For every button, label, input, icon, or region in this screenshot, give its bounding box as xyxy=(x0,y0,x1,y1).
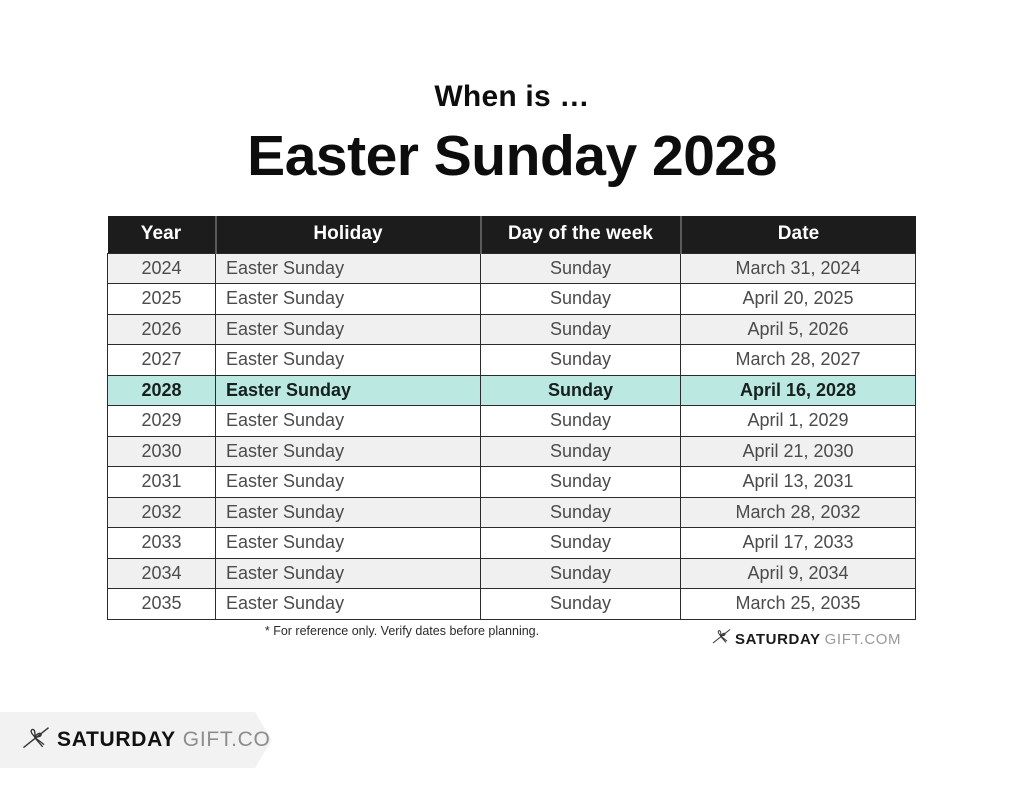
page-kicker: When is … xyxy=(0,80,1024,113)
cell-day-of-week: Sunday xyxy=(481,528,681,559)
brand-name-light: GIFT.COM xyxy=(825,631,901,648)
brand-name-bold: SATURDAY xyxy=(57,728,176,752)
cell-holiday: Easter Sunday xyxy=(216,406,481,437)
cell-holiday: Easter Sunday xyxy=(216,253,481,284)
table-header: Year Holiday Day of the week Date xyxy=(108,216,916,253)
table-row: 2035Easter SundaySundayMarch 25, 2035 xyxy=(108,589,916,620)
table-row: 2029Easter SundaySundayApril 1, 2029 xyxy=(108,406,916,437)
cell-year: 2028 xyxy=(108,375,216,406)
cell-year: 2035 xyxy=(108,589,216,620)
cell-year: 2027 xyxy=(108,345,216,376)
cell-year: 2026 xyxy=(108,314,216,345)
poster-page: When is … Easter Sunday 2028 Year Holida… xyxy=(0,0,1024,791)
cell-holiday: Easter Sunday xyxy=(216,284,481,315)
brand-logo-small[interactable]: SATURDAYGIFT.COM xyxy=(712,628,901,650)
cell-day-of-week: Sunday xyxy=(481,375,681,406)
column-header-year: Year xyxy=(108,216,216,253)
footnote: * For reference only. Verify dates befor… xyxy=(107,624,697,638)
cell-day-of-week: Sunday xyxy=(481,467,681,498)
cell-holiday: Easter Sunday xyxy=(216,467,481,498)
column-header-holiday: Holiday xyxy=(216,216,481,253)
cell-day-of-week: Sunday xyxy=(481,314,681,345)
table-row: 2033Easter SundaySundayApril 17, 2033 xyxy=(108,528,916,559)
table-row: 2034Easter SundaySundayApril 9, 2034 xyxy=(108,558,916,589)
easter-dates-table: Year Holiday Day of the week Date 2024Ea… xyxy=(107,216,916,620)
cell-holiday: Easter Sunday xyxy=(216,497,481,528)
cell-date: April 20, 2025 xyxy=(681,284,916,315)
cell-year: 2032 xyxy=(108,497,216,528)
cell-day-of-week: Sunday xyxy=(481,284,681,315)
brand-logo-banner[interactable]: SATURDAYGIFT.COM xyxy=(0,712,272,768)
cell-date: March 25, 2035 xyxy=(681,589,916,620)
column-header-date: Date xyxy=(681,216,916,253)
cell-date: April 1, 2029 xyxy=(681,406,916,437)
cell-holiday: Easter Sunday xyxy=(216,528,481,559)
cell-day-of-week: Sunday xyxy=(481,497,681,528)
cell-year: 2024 xyxy=(108,253,216,284)
cell-day-of-week: Sunday xyxy=(481,406,681,437)
table-row: 2030Easter SundaySundayApril 21, 2030 xyxy=(108,436,916,467)
cell-day-of-week: Sunday xyxy=(481,589,681,620)
cell-day-of-week: Sunday xyxy=(481,558,681,589)
cell-date: April 5, 2026 xyxy=(681,314,916,345)
cell-date: March 28, 2027 xyxy=(681,345,916,376)
scissors-icon xyxy=(22,725,50,756)
title-block: When is … Easter Sunday 2028 xyxy=(0,80,1024,188)
cell-holiday: Easter Sunday xyxy=(216,345,481,376)
scissors-icon xyxy=(712,628,731,650)
cell-year: 2034 xyxy=(108,558,216,589)
cell-date: April 13, 2031 xyxy=(681,467,916,498)
cell-day-of-week: Sunday xyxy=(481,345,681,376)
table-row: 2032Easter SundaySundayMarch 28, 2032 xyxy=(108,497,916,528)
cell-year: 2030 xyxy=(108,436,216,467)
table-row: 2026Easter SundaySundayApril 5, 2026 xyxy=(108,314,916,345)
cell-day-of-week: Sunday xyxy=(481,253,681,284)
cell-year: 2025 xyxy=(108,284,216,315)
cell-holiday: Easter Sunday xyxy=(216,314,481,345)
table-row-highlighted: 2028Easter SundaySundayApril 16, 2028 xyxy=(108,375,916,406)
table-row: 2025Easter SundaySundayApril 20, 2025 xyxy=(108,284,916,315)
cell-year: 2033 xyxy=(108,528,216,559)
cell-date: April 16, 2028 xyxy=(681,375,916,406)
cell-holiday: Easter Sunday xyxy=(216,375,481,406)
cell-day-of-week: Sunday xyxy=(481,436,681,467)
table-row: 2027Easter SundaySundayMarch 28, 2027 xyxy=(108,345,916,376)
cell-date: April 21, 2030 xyxy=(681,436,916,467)
cell-holiday: Easter Sunday xyxy=(216,589,481,620)
cell-date: March 28, 2032 xyxy=(681,497,916,528)
table-header-row: Year Holiday Day of the week Date xyxy=(108,216,916,253)
cell-year: 2029 xyxy=(108,406,216,437)
easter-dates-table-wrapper: Year Holiday Day of the week Date 2024Ea… xyxy=(107,216,915,620)
cell-year: 2031 xyxy=(108,467,216,498)
column-header-day-of-week: Day of the week xyxy=(481,216,681,253)
table-body: 2024Easter SundaySundayMarch 31, 2024202… xyxy=(108,253,916,619)
page-title: Easter Sunday 2028 xyxy=(0,125,1024,188)
cell-date: April 17, 2033 xyxy=(681,528,916,559)
brand-name-light: GIFT.COM xyxy=(183,728,289,752)
table-row: 2024Easter SundaySundayMarch 31, 2024 xyxy=(108,253,916,284)
cell-holiday: Easter Sunday xyxy=(216,436,481,467)
table-row: 2031Easter SundaySundayApril 13, 2031 xyxy=(108,467,916,498)
cell-date: April 9, 2034 xyxy=(681,558,916,589)
cell-date: March 31, 2024 xyxy=(681,253,916,284)
cell-holiday: Easter Sunday xyxy=(216,558,481,589)
brand-name-bold: SATURDAY xyxy=(735,631,821,648)
